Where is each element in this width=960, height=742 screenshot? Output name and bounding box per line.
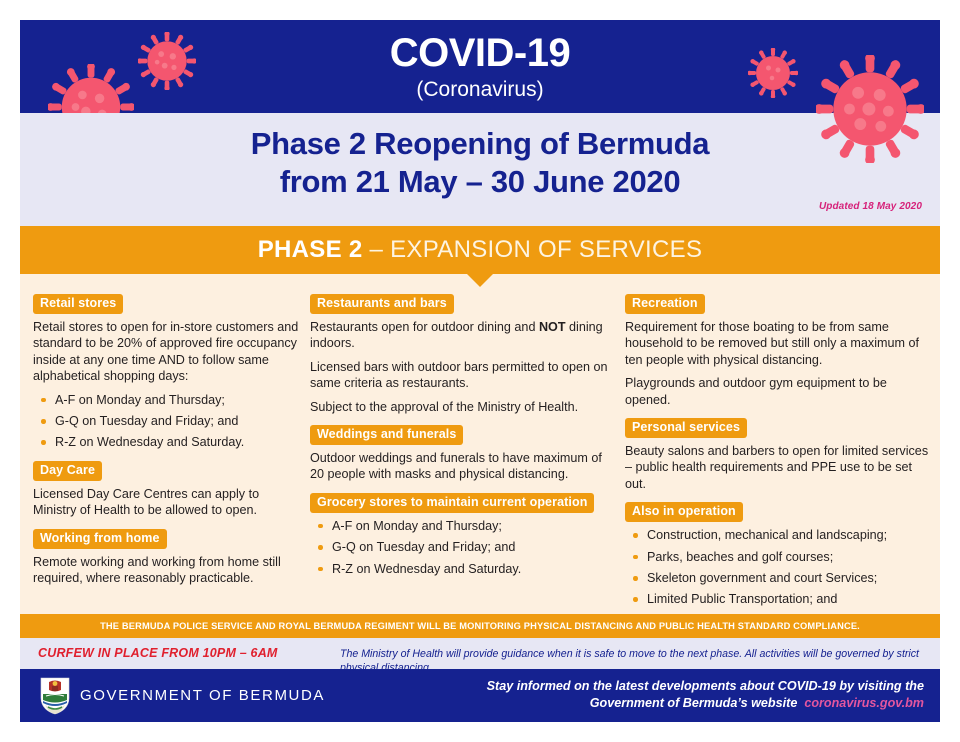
content-section: Restaurants and barsRestaurants open for… xyxy=(310,294,615,415)
poster: COVID-19 (Coronavirus) Phase 2 Reopening… xyxy=(20,20,940,722)
content-section: RecreationRequirement for those boating … xyxy=(625,294,930,408)
content-section: Retail storesRetail stores to open for i… xyxy=(33,294,305,451)
banner-notch-icon xyxy=(467,274,493,287)
list-item: A-F on Monday and Thursday; xyxy=(310,518,615,534)
list-item: R-Z on Wednesday and Saturday. xyxy=(33,434,305,450)
section-paragraph: Beauty salons and barbers to open for li… xyxy=(625,443,930,492)
section-paragraph: Remote working and working from home sti… xyxy=(33,554,305,587)
section-paragraph: Retail stores to open for in-store custo… xyxy=(33,319,305,385)
stay-informed-line2: Government of Bermuda’s website xyxy=(590,696,798,710)
phase-banner-strong: PHASE 2 xyxy=(258,236,363,263)
section-paragraph: Restaurants open for outdoor dining and … xyxy=(310,319,615,352)
section-paragraph: Licensed Day Care Centres can apply to M… xyxy=(33,486,305,519)
section-bullet-list: A-F on Monday and Thursday;G-Q on Tuesda… xyxy=(310,518,615,577)
updated-date: Updated 18 May 2020 xyxy=(819,201,922,212)
header-navy-band: COVID-19 (Coronavirus) xyxy=(20,20,940,113)
phase-heading: Phase 2 Reopening of Bermuda from 21 May… xyxy=(20,125,940,201)
section-heading-badge: Personal services xyxy=(625,418,747,438)
list-item: R-Z on Wednesday and Saturday. xyxy=(310,561,615,577)
enforcement-notice-strip: THE BERMUDA POLICE SERVICE AND ROYAL BER… xyxy=(20,614,940,638)
curfew-text: CURFEW IN PLACE FROM 10PM – 6AM xyxy=(38,646,278,660)
column-left: Retail storesRetail stores to open for i… xyxy=(33,294,305,596)
enforcement-notice-text: THE BERMUDA POLICE SERVICE AND ROYAL BER… xyxy=(20,620,940,632)
list-item: G-Q on Tuesday and Friday; and xyxy=(33,413,305,429)
section-heading-badge: Grocery stores to maintain current opera… xyxy=(310,493,594,513)
section-heading-badge: Also in operation xyxy=(625,502,743,522)
list-item: Construction, mechanical and landscaping… xyxy=(625,527,930,543)
column-right: RecreationRequirement for those boating … xyxy=(625,294,930,656)
page-title: COVID-19 xyxy=(20,31,940,75)
section-heading-badge: Restaurants and bars xyxy=(310,294,454,314)
section-heading-badge: Working from home xyxy=(33,529,167,549)
section-heading-badge: Weddings and funerals xyxy=(310,425,463,445)
column-middle: Restaurants and barsRestaurants open for… xyxy=(310,294,615,587)
stay-informed-line1: Stay informed on the latest developments… xyxy=(487,679,924,693)
phase-banner-text: PHASE 2 – EXPANSION OF SERVICES xyxy=(20,235,940,265)
phase-banner-rest: – EXPANSION OF SERVICES xyxy=(363,236,703,263)
section-paragraph: Outdoor weddings and funerals to have ma… xyxy=(310,450,615,483)
footer: GOVERNMENT OF BERMUDA Stay informed on t… xyxy=(20,669,940,722)
section-paragraph: Licensed bars with outdoor bars permitte… xyxy=(310,359,615,392)
section-heading-badge: Recreation xyxy=(625,294,705,314)
section-paragraph: Requirement for those boating to be from… xyxy=(625,319,930,368)
curfew-strip: CURFEW IN PLACE FROM 10PM – 6AM The Mini… xyxy=(20,638,940,669)
section-paragraph: Subject to the approval of the Ministry … xyxy=(310,399,615,415)
phase-heading-line1: Phase 2 Reopening of Bermuda xyxy=(251,126,709,161)
content-section: Working from homeRemote working and work… xyxy=(33,529,305,587)
list-item: Limited Public Transportation; and xyxy=(625,591,930,607)
coronavirus-website-link[interactable]: coronavirus.gov.bm xyxy=(804,696,924,710)
stay-informed-block: Stay informed on the latest developments… xyxy=(384,678,924,712)
list-item: G-Q on Tuesday and Friday; and xyxy=(310,539,615,555)
content-section: Personal servicesBeauty salons and barbe… xyxy=(625,418,930,492)
phase-heading-line2: from 21 May – 30 June 2020 xyxy=(280,164,681,199)
content-section: Day CareLicensed Day Care Centres can ap… xyxy=(33,461,305,519)
section-heading-badge: Retail stores xyxy=(33,294,123,314)
content-area: Retail storesRetail stores to open for i… xyxy=(20,274,940,614)
government-name: GOVERNMENT OF BERMUDA xyxy=(80,687,325,704)
list-item: Parks, beaches and golf courses; xyxy=(625,549,930,565)
phase-banner: PHASE 2 – EXPANSION OF SERVICES xyxy=(20,226,940,274)
section-bullet-list: A-F on Monday and Thursday;G-Q on Tuesda… xyxy=(33,392,305,451)
content-section: Weddings and funeralsOutdoor weddings an… xyxy=(310,425,615,483)
phase-title-band: Phase 2 Reopening of Bermuda from 21 May… xyxy=(20,113,940,226)
section-heading-badge: Day Care xyxy=(33,461,102,481)
list-item: A-F on Monday and Thursday; xyxy=(33,392,305,408)
page-subtitle: (Coronavirus) xyxy=(20,78,940,102)
content-section: Grocery stores to maintain current opera… xyxy=(310,493,615,577)
bermuda-coat-of-arms-icon xyxy=(36,676,74,716)
section-paragraph: Playgrounds and outdoor gym equipment to… xyxy=(625,375,930,408)
list-item: Skeleton government and court Services; xyxy=(625,570,930,586)
